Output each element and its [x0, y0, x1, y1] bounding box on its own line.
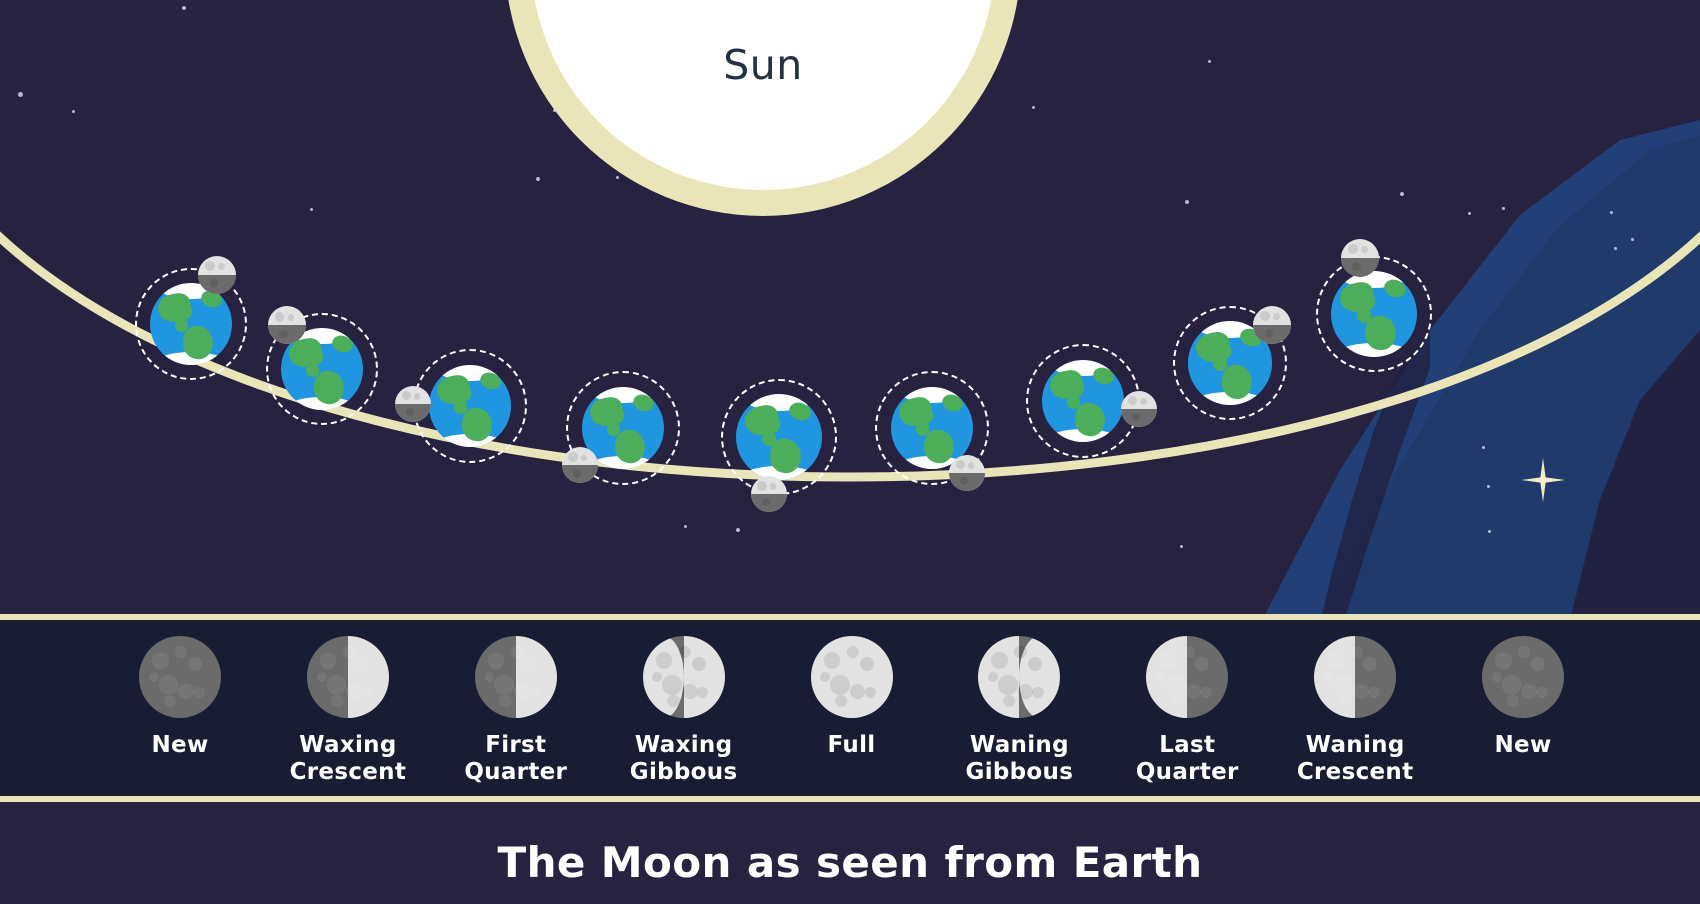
moon-phase-icon [1314, 636, 1396, 718]
moon-crater [770, 483, 776, 489]
moon-crater [494, 675, 514, 695]
orbiting-moon [1341, 239, 1379, 277]
moon-crater [1518, 646, 1530, 658]
moon-crater [514, 684, 530, 700]
continent-landmass [1205, 351, 1215, 359]
moon-crater [1492, 672, 1502, 682]
moon-crater [1200, 687, 1211, 698]
moon-crater [1368, 687, 1379, 698]
new-moon-end-system [1291, 231, 1457, 397]
moon-crater [193, 687, 204, 698]
earth-globe [150, 283, 232, 365]
moon-phase-icon [475, 636, 557, 718]
waning-gibbous-system [851, 347, 1013, 509]
continent-landmass [897, 395, 935, 429]
moon-crater [847, 646, 859, 658]
caption-text: The Moon as seen from Earth [0, 838, 1700, 887]
moon-phase-icon [307, 636, 389, 718]
moon-crater [762, 498, 770, 506]
first-quarter-system [389, 325, 551, 487]
moon-crater [164, 695, 176, 707]
moon-crater [178, 684, 194, 700]
moon-crater [1531, 657, 1545, 671]
continent-landmass [907, 417, 917, 425]
caption-band: The Moon as seen from Earth [0, 802, 1700, 904]
moon-crater [1140, 398, 1146, 404]
moon-crater [667, 695, 679, 707]
moon-crater [1014, 646, 1026, 658]
moon-crater [1195, 657, 1209, 671]
orbiting-moon [562, 447, 598, 483]
moon-crater [1536, 687, 1547, 698]
continent-landmass [1348, 302, 1358, 311]
continent-landmass [1048, 368, 1086, 402]
moon-crater [205, 261, 215, 271]
continent-landmass [598, 417, 608, 425]
waning-gibbous2-system [1002, 320, 1164, 482]
moon-crater [1348, 244, 1358, 254]
moon-crater [662, 675, 682, 695]
orbiting-moon [949, 455, 985, 491]
moon-crater [1028, 657, 1042, 671]
moon-phase-row: NewWaxing CrescentFirst QuarterWaxing Gi… [0, 620, 1700, 796]
moon-phases-infographic: Sun NewWaxing CrescentFirst QuarterWaxin… [0, 0, 1700, 904]
moon-crater [679, 646, 691, 658]
moon-phase-icon [139, 636, 221, 718]
continent-landmass [297, 358, 307, 366]
moon-crater [406, 408, 414, 416]
moon-crater [757, 481, 766, 490]
moon-crater [159, 675, 179, 695]
moon-crater [175, 646, 187, 658]
moon-crater [960, 477, 968, 485]
earth-globe [1331, 271, 1417, 357]
moon-crater [824, 652, 840, 668]
moon-crater [1265, 329, 1273, 337]
moon-crater [692, 657, 706, 671]
phase-label: New [1418, 732, 1628, 759]
continent-landmass [753, 425, 763, 434]
moon-crater [327, 675, 347, 695]
orbiting-moon [268, 306, 306, 344]
moon-crater [988, 672, 998, 682]
moon-crater [1327, 652, 1343, 668]
continent-landmass [156, 291, 194, 325]
moon-crater [346, 684, 362, 700]
moon-crater [1352, 262, 1360, 270]
moon-crater [656, 652, 672, 668]
moon-crater [1521, 684, 1537, 700]
orbiting-moon [1253, 306, 1291, 344]
moon-crater [1353, 684, 1369, 700]
earth-globe [1042, 360, 1124, 442]
moon-phase-icon [811, 636, 893, 718]
sun-disc [531, 0, 995, 190]
moon-crater [860, 657, 874, 671]
moon-crater [152, 652, 168, 668]
moon-crater [317, 672, 327, 682]
moon-crater [573, 470, 581, 478]
moon-crater [1166, 675, 1186, 695]
moon-crater [682, 684, 698, 700]
continent-landmass [166, 313, 176, 321]
moon-crater [820, 672, 830, 682]
moon-crater [320, 652, 336, 668]
moon-phase-icon [643, 636, 725, 718]
waning-crescent-system [1148, 281, 1312, 445]
earth-globe [736, 394, 822, 480]
sun-label: Sun [505, 41, 1021, 89]
moon-crater [188, 657, 202, 671]
full-moon-system [697, 355, 861, 519]
moon-crater [488, 652, 504, 668]
moon-crater [331, 695, 343, 707]
moon-crater [1128, 396, 1137, 405]
moon-crater [1324, 672, 1334, 682]
earth-globe [429, 365, 511, 447]
moon-crater [1159, 652, 1175, 668]
moon-crater [279, 330, 287, 338]
sun: Sun [505, 0, 1021, 216]
moon-crater [830, 675, 850, 695]
moon-crater [499, 695, 511, 707]
moon-crater [218, 263, 225, 270]
moon-crater [1507, 695, 1519, 707]
moon-phase-icon [978, 636, 1060, 718]
moon-crater [1186, 684, 1202, 700]
moon-crater [1350, 646, 1362, 658]
moon-crater [1495, 652, 1511, 668]
moon-crater [288, 314, 295, 321]
moon-crater [1182, 646, 1194, 658]
moon-phase-icon [1482, 636, 1564, 718]
moon-crater [581, 455, 587, 461]
waxing-crescent-system [241, 288, 403, 450]
moon-crater [1361, 246, 1368, 253]
moon-crater [1273, 313, 1280, 320]
moon-phase-strip: NewWaxing CrescentFirst QuarterWaxing Gi… [0, 620, 1700, 796]
moon-crater [275, 312, 285, 322]
moon-crater [1502, 675, 1522, 695]
moon-crater [1260, 311, 1270, 321]
orbiting-moon [751, 476, 787, 512]
continent-landmass [445, 395, 455, 403]
moon-crater [568, 452, 577, 461]
moon-crater [402, 391, 411, 400]
moon-crater [414, 393, 420, 399]
waxing-gibbous-system [542, 347, 704, 509]
continent-landmass [435, 373, 473, 407]
orbiting-moon [395, 386, 431, 422]
orbiting-moon [198, 256, 236, 294]
continent-landmass [1058, 390, 1068, 398]
phase-item[interactable]: New [1418, 636, 1628, 759]
moon-crater [1156, 672, 1166, 682]
continent-landmass [588, 395, 626, 429]
moon-crater [998, 675, 1018, 695]
moon-crater [149, 672, 159, 682]
moon-phase-icon [1146, 636, 1228, 718]
moon-crater [485, 672, 495, 682]
moon-crater [968, 462, 974, 468]
moon-crater [956, 460, 965, 469]
moon-crater [991, 652, 1007, 668]
